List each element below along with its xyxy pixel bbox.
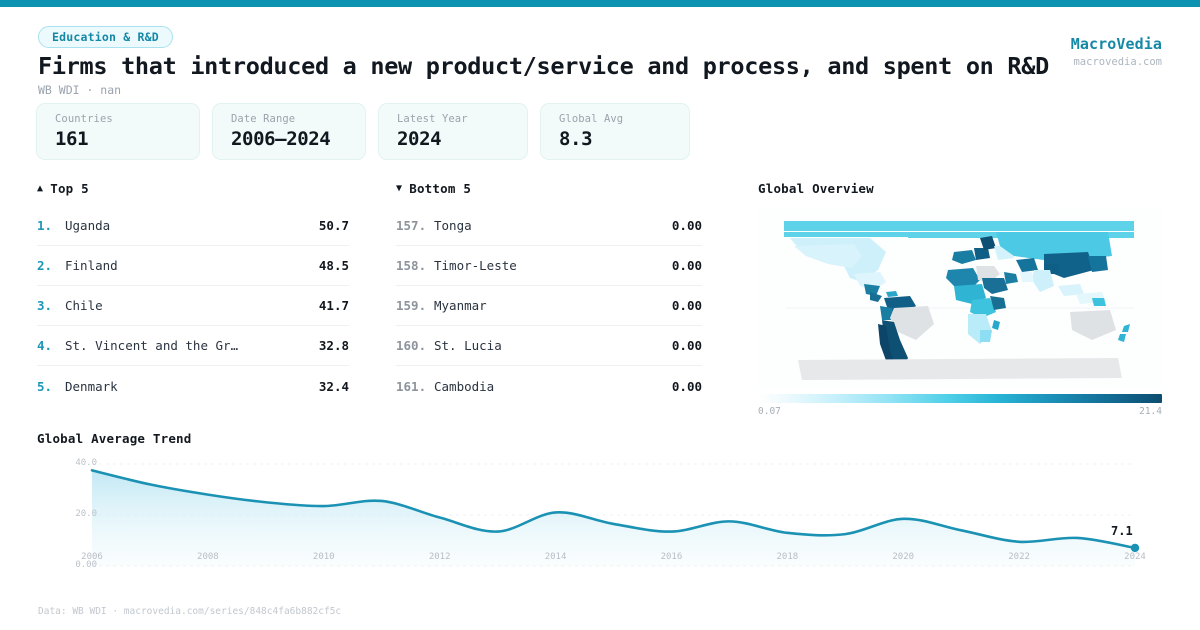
triangle-up-icon: ▲ xyxy=(37,184,43,194)
row-name: Uganda xyxy=(65,218,319,233)
x-axis-tick-label: 2008 xyxy=(197,552,219,562)
y-axis-tick-label: 40.0 xyxy=(57,458,97,468)
triangle-down-icon: ▼ xyxy=(396,184,402,194)
row-rank: 159. xyxy=(396,298,434,313)
x-axis-tick-label: 2018 xyxy=(776,552,798,562)
legend-labels: 0.07 21.4 xyxy=(758,406,1162,417)
row-name: Finland xyxy=(65,258,319,273)
page-subtitle: WB WDI · nan xyxy=(38,83,121,97)
stat-card-date-range: Date Range 2006–2024 xyxy=(212,103,366,160)
stat-card-row: Countries 161 Date Range 2006–2024 Lates… xyxy=(36,103,690,160)
table-row[interactable]: 5. Denmark 32.4 xyxy=(37,366,349,406)
brand-name: MacroVedia xyxy=(1071,35,1162,53)
row-rank: 3. xyxy=(37,298,65,313)
row-value: 0.00 xyxy=(672,258,702,273)
row-rank: 2. xyxy=(37,258,65,273)
row-name: Cambodia xyxy=(434,379,672,394)
page-title: Firms that introduced a new product/serv… xyxy=(38,52,1049,80)
map-title-label: Global Overview xyxy=(758,181,874,196)
brand-url: macrovedia.com xyxy=(1071,56,1162,68)
row-value: 0.00 xyxy=(672,218,702,233)
row-value: 50.7 xyxy=(319,218,349,233)
table-row[interactable]: 2. Finland 48.5 xyxy=(37,246,349,286)
top-5-title: ▲ Top 5 xyxy=(37,181,349,196)
row-value: 0.00 xyxy=(672,338,702,353)
row-rank: 158. xyxy=(396,258,434,273)
legend-gradient-bar xyxy=(758,394,1162,403)
page-header: Education & R&D Firms that introduced a … xyxy=(0,7,1200,99)
top-5-title-label: Top 5 xyxy=(50,181,89,196)
x-axis-tick-label: 2014 xyxy=(545,552,567,562)
x-axis-tick-label: 2016 xyxy=(661,552,683,562)
row-name: Denmark xyxy=(65,379,319,394)
stat-label: Latest Year xyxy=(397,113,509,125)
stat-card-latest-year: Latest Year 2024 xyxy=(378,103,528,160)
row-name: Tonga xyxy=(434,218,672,233)
top-accent-bar xyxy=(0,0,1200,7)
y-axis-tick-label: 20.0 xyxy=(57,509,97,519)
stat-label: Date Range xyxy=(231,113,347,125)
brand-block: MacroVedia macrovedia.com xyxy=(1071,35,1162,68)
stat-value: 161 xyxy=(55,128,181,150)
x-axis-tick-labels: 2006200820102012201420162018202020222024 xyxy=(37,552,1163,568)
row-value: 48.5 xyxy=(319,258,349,273)
table-row[interactable]: 157. Tonga 0.00 xyxy=(396,206,702,246)
top-5-rows: 1. Uganda 50.7 2. Finland 48.5 3. Chile … xyxy=(37,206,349,406)
legend-max-label: 21.4 xyxy=(1139,406,1162,417)
trend-endpoint-dot xyxy=(1131,544,1139,552)
top-5-panel: ▲ Top 5 1. Uganda 50.7 2. Finland 48.5 3… xyxy=(37,181,349,406)
table-row[interactable]: 3. Chile 41.7 xyxy=(37,286,349,326)
footer-source-text: Data: WB WDI · macrovedia.com/series/848… xyxy=(38,606,341,617)
x-axis-tick-label: 2022 xyxy=(1008,552,1030,562)
row-name: St. Lucia xyxy=(434,338,672,353)
x-axis-tick-label: 2012 xyxy=(429,552,451,562)
row-rank: 1. xyxy=(37,218,65,233)
stat-label: Global Avg xyxy=(559,113,671,125)
stat-value: 2024 xyxy=(397,128,509,150)
row-name: Timor-Leste xyxy=(434,258,672,273)
bottom-5-title: ▼ Bottom 5 xyxy=(396,181,702,196)
row-rank: 157. xyxy=(396,218,434,233)
row-value: 32.4 xyxy=(319,379,349,394)
bottom-5-rows: 157. Tonga 0.00 158. Timor-Leste 0.00 15… xyxy=(396,206,702,406)
x-axis-tick-label: 2010 xyxy=(313,552,335,562)
trend-end-value-label: 7.1 xyxy=(1111,524,1133,538)
row-value: 0.00 xyxy=(672,298,702,313)
row-value: 32.8 xyxy=(319,338,349,353)
row-rank: 161. xyxy=(396,379,434,394)
stat-label: Countries xyxy=(55,113,181,125)
stat-value: 2006–2024 xyxy=(231,128,347,150)
stat-card-global-avg: Global Avg 8.3 xyxy=(540,103,690,160)
table-row[interactable]: 4. St. Vincent and the Gr… 32.8 xyxy=(37,326,349,366)
row-value: 41.7 xyxy=(319,298,349,313)
table-row[interactable]: 161. Cambodia 0.00 xyxy=(396,366,702,406)
row-rank: 5. xyxy=(37,379,65,394)
world-choropleth-map[interactable] xyxy=(758,208,1162,388)
row-rank: 4. xyxy=(37,338,65,353)
table-row[interactable]: 158. Timor-Leste 0.00 xyxy=(396,246,702,286)
trend-title: Global Average Trend xyxy=(37,431,1163,446)
table-row[interactable]: 160. St. Lucia 0.00 xyxy=(396,326,702,366)
row-name: Myanmar xyxy=(434,298,672,313)
map-color-legend: 0.07 21.4 xyxy=(758,394,1162,417)
bottom-5-title-label: Bottom 5 xyxy=(409,181,471,196)
x-axis-tick-label: 2024 xyxy=(1124,552,1146,562)
x-axis-tick-label: 2006 xyxy=(81,552,103,562)
table-row[interactable]: 159. Myanmar 0.00 xyxy=(396,286,702,326)
row-name: Chile xyxy=(65,298,319,313)
table-row[interactable]: 1. Uganda 50.7 xyxy=(37,206,349,246)
stat-value: 8.3 xyxy=(559,128,671,150)
row-value: 0.00 xyxy=(672,379,702,394)
global-overview-panel: Global Overview xyxy=(758,181,1162,417)
bottom-5-panel: ▼ Bottom 5 157. Tonga 0.00 158. Timor-Le… xyxy=(396,181,702,406)
category-badge: Education & R&D xyxy=(38,26,173,48)
legend-min-label: 0.07 xyxy=(758,406,781,417)
x-axis-tick-label: 2020 xyxy=(892,552,914,562)
row-rank: 160. xyxy=(396,338,434,353)
stat-card-countries: Countries 161 xyxy=(36,103,200,160)
row-name: St. Vincent and the Gr… xyxy=(65,338,319,353)
map-title: Global Overview xyxy=(758,181,1162,196)
